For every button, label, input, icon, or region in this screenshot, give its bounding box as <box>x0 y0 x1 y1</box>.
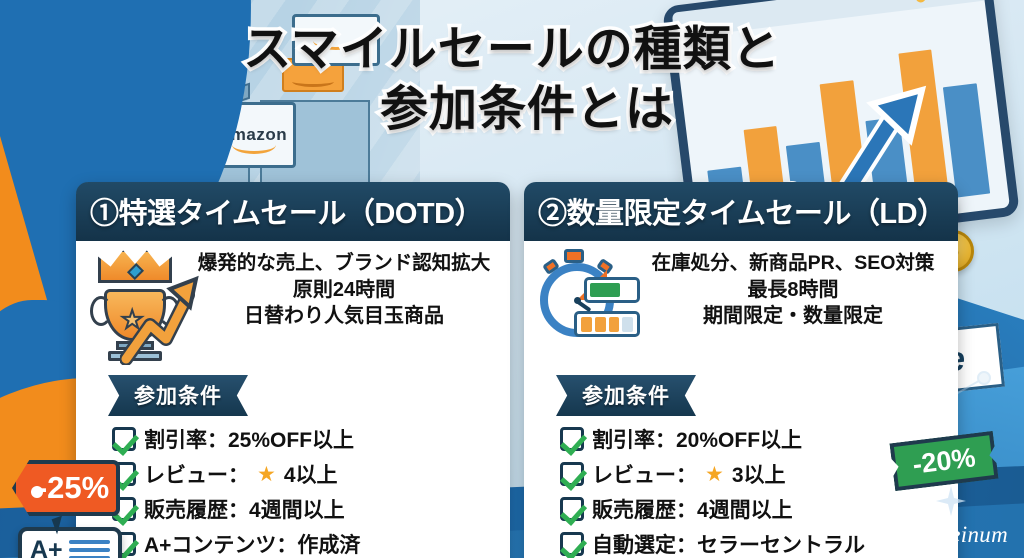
battery-full-icon <box>584 277 640 303</box>
aplus-content-card: A+ <box>18 527 122 558</box>
condition-item: レビュー： ★ 3以上 <box>560 459 948 489</box>
stopwatch-crown-icon <box>564 249 584 263</box>
condition-label: 割引率：20%OFF以上 <box>592 424 802 454</box>
desc-line: 日替わり人気目玉商品 <box>188 303 500 329</box>
infographic-canvas: amazon $ $ sale <box>0 0 1024 558</box>
desc-line: 原則24時間 <box>188 277 500 303</box>
card-ld-header: ②数量限定タイムセール（LD） <box>524 182 958 241</box>
stopwatch-battery-icon <box>534 247 634 365</box>
i-swoosh-icon <box>877 522 903 548</box>
condition-label: A+コンテンツ：作成済 <box>144 529 360 558</box>
card-ld-ribbon: 参加条件 <box>556 375 696 416</box>
title-line-2: 参加条件とは <box>0 80 1024 140</box>
condition-item: 割引率：20%OFF以上 <box>560 424 948 454</box>
card-dotd-body: ★ 爆発的な売上、ブランド認知拡大 原則24時間 日替わり人気目玉商品 <box>76 241 510 558</box>
checkbox-checked-icon <box>112 427 136 451</box>
card-dotd-description: 爆発的な売上、ブランド認知拡大 原則24時間 日替わり人気目玉商品 <box>188 247 500 330</box>
card-dotd-conditions: 割引率：25%OFF以上 レビュー： ★ 4以上 販売履歴：4週間以上 <box>112 424 500 558</box>
condition-item: 割引率：25%OFF以上 <box>112 424 500 454</box>
orange-growth-arrow-icon <box>120 269 200 365</box>
condition-label: レビュー： <box>144 459 249 489</box>
condition-item: レビュー： ★ 4以上 <box>112 459 500 489</box>
condition-item: A+コンテンツ：作成済 <box>112 529 500 558</box>
desc-line: 爆発的な売上、ブランド認知拡大 <box>188 251 500 277</box>
star-icon: ★ <box>257 462 276 487</box>
star-icon: ★ <box>705 462 724 487</box>
battery-low-icon <box>574 311 640 337</box>
condition-item: 販売履歴：4週間以上 <box>560 494 948 524</box>
condition-label: 販売履歴：4週間以上 <box>144 494 345 524</box>
brand-logo: Proteinum <box>877 522 1008 548</box>
condition-item: 販売履歴：4週間以上 <box>112 494 500 524</box>
condition-label: レビュー： <box>592 459 697 489</box>
aplus-label: A+ <box>30 536 63 558</box>
discount-tag-label: -25% <box>37 470 109 506</box>
condition-label: 自動選定：セラーセントラル <box>592 529 865 558</box>
tag-hole <box>31 486 43 498</box>
card-ld[interactable]: ②数量限定タイムセール（LD） <box>524 182 958 558</box>
condition-label-suffix: 4以上 <box>284 459 338 489</box>
card-dotd-summary: ★ 爆発的な売上、ブランド認知拡大 原則24時間 日替わり人気目玉商品 <box>86 247 500 365</box>
discount-tag: -25% <box>12 460 120 516</box>
checkbox-checked-icon <box>560 497 584 521</box>
coupon-ticket-label: -20% <box>911 442 977 480</box>
checkbox-checked-icon <box>560 462 584 486</box>
desc-line: 在庫処分、新商品PR、SEO対策 <box>638 251 948 277</box>
condition-label-suffix: 3以上 <box>732 459 786 489</box>
aplus-lines-icon <box>69 536 110 558</box>
checkbox-checked-icon <box>560 427 584 451</box>
checkbox-checked-icon <box>560 532 584 556</box>
card-dotd-ribbon: 参加条件 <box>108 375 248 416</box>
condition-label: 割引率：25%OFF以上 <box>144 424 354 454</box>
desc-line: 期間限定・数量限定 <box>638 303 948 329</box>
card-ld-description: 在庫処分、新商品PR、SEO対策 最長8時間 期間限定・数量限定 <box>638 247 948 330</box>
page-title: スマイルセールの種類と 参加条件とは <box>0 20 1024 140</box>
desc-line: 最長8時間 <box>638 277 948 303</box>
sale-type-cards: ①特選タイムセール（DOTD） ★ 爆発的な売上、ブランド認知拡大 原則24時間 <box>76 182 1006 558</box>
brand-logo-text: Proteinum <box>909 522 1008 548</box>
condition-label: 販売履歴：4週間以上 <box>592 494 793 524</box>
sparkle-icon <box>936 486 966 516</box>
card-ld-summary: 在庫処分、新商品PR、SEO対策 最長8時間 期間限定・数量限定 <box>534 247 948 365</box>
title-line-1: スマイルセールの種類と <box>0 20 1024 80</box>
card-dotd[interactable]: ①特選タイムセール（DOTD） ★ 爆発的な売上、ブランド認知拡大 原則24時間 <box>76 182 510 558</box>
card-dotd-header: ①特選タイムセール（DOTD） <box>76 182 510 241</box>
card-ld-body: 在庫処分、新商品PR、SEO対策 最長8時間 期間限定・数量限定 参加条件 割引… <box>524 241 958 558</box>
battery-fill <box>590 283 620 297</box>
